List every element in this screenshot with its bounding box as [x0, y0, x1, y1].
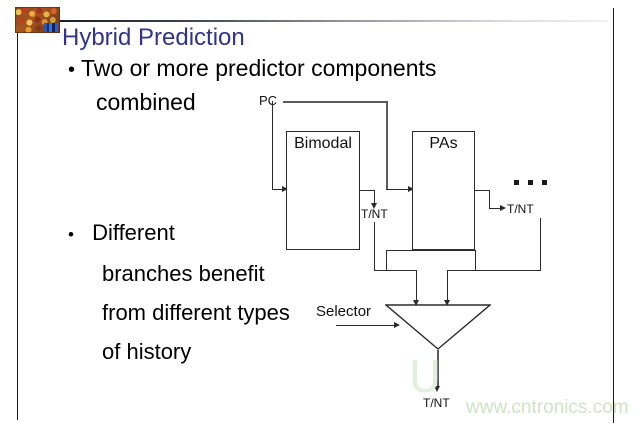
bullet-2-line-3: from different types — [68, 293, 290, 332]
watermark-mark-icon: ᑌ — [402, 352, 448, 404]
selector-label: Selector — [316, 303, 371, 320]
ellipsis-dot — [528, 180, 533, 185]
mosaic-logo-icon — [15, 7, 60, 33]
bimodal-to-mux-vertical-1 — [374, 222, 375, 270]
bimodal-box-bottom-drop — [386, 250, 387, 270]
ellipsis-dot — [542, 180, 547, 185]
pc-branch-pas-horizontal — [386, 189, 410, 190]
pc-bus-horizontal — [283, 101, 388, 103]
bimodal-out-horizontal — [360, 190, 374, 191]
pas-out-vertical — [489, 190, 490, 208]
bullet-marker: • — [68, 59, 75, 81]
bullet-2-line-1: Different — [80, 220, 175, 245]
pas-to-mux-vertical-2 — [447, 270, 448, 303]
bullet-2-line-4: of history — [68, 332, 290, 371]
predictor-box-bimodal-label: Bimodal — [287, 135, 359, 153]
bimodal-to-mux-vertical-2 — [416, 270, 417, 303]
pas-to-mux-vertical-1 — [540, 218, 541, 270]
pas-to-mux-horizontal — [447, 270, 541, 271]
logo-blue-block-icon — [44, 23, 58, 32]
bullet-marker: • — [68, 225, 74, 244]
page-title: Hybrid Prediction — [62, 24, 245, 52]
left-border-rule — [17, 22, 18, 420]
bullet-2-line-2: branches benefit — [68, 254, 290, 293]
pc-branch-pas-vertical — [386, 101, 388, 189]
pas-out-arrowhead-icon — [500, 205, 506, 211]
title-underline-rule — [56, 20, 608, 22]
more-predictors-ellipsis — [514, 180, 547, 185]
predictor-box-pas: PAs — [412, 131, 475, 250]
slide-canvas: Hybrid Prediction • Two or more predicto… — [0, 0, 643, 425]
bullet-item-2: • Different branches benefit from differ… — [68, 213, 290, 371]
bullet-item-1: • Two or more predictor components combi… — [68, 52, 436, 118]
pc-branch-bimodal-vertical — [272, 101, 273, 189]
boxes-bottom-bus — [386, 250, 475, 251]
pc-input-label: PC — [259, 93, 277, 108]
pas-box-bottom-drop — [475, 250, 476, 270]
bimodal-output-label: T/NT — [361, 207, 388, 221]
watermark-url: www.cntronics.com — [466, 397, 629, 419]
ellipsis-dot — [514, 180, 519, 185]
predictor-box-bimodal: Bimodal — [286, 131, 360, 250]
bimodal-to-mux-horizontal — [374, 270, 416, 271]
pas-out-horizontal — [475, 190, 489, 191]
pas-output-label: T/NT — [507, 202, 534, 216]
bullet-1-line-1: Two or more predictor components — [81, 55, 436, 81]
mux-selector-triangle — [385, 304, 491, 350]
predictor-box-pas-label: PAs — [413, 135, 474, 153]
right-border-rule — [613, 8, 614, 423]
